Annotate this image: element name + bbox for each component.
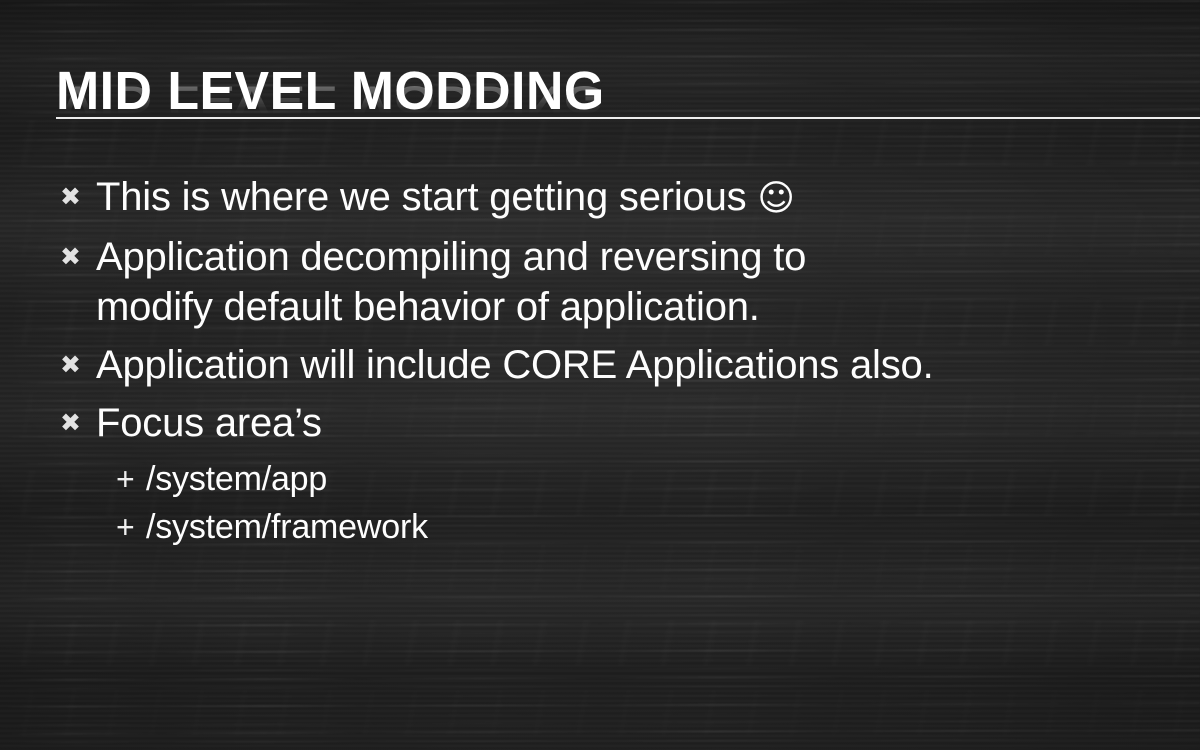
sub-bullet-item: + /system/app [0, 456, 1200, 502]
slide-title-block: Mid Level Modding Mid Level Modding [56, 64, 1156, 160]
bullet-item: ✖ Application will include CORE Applicat… [0, 340, 1200, 390]
bullet-text: Application decompiling and reversing to… [96, 232, 1200, 332]
smiley-face-icon: ☺ [757, 178, 794, 219]
sub-bullet-text: /system/framework [146, 504, 1200, 550]
plus-bullet-icon: + [116, 456, 146, 502]
cross-bullet-icon: ✖ [58, 172, 96, 222]
bullet-text: Focus area’s [96, 398, 1200, 448]
bullet-item: ✖ Application decompiling and reversing … [0, 232, 1200, 332]
slide-body: ✖ This is where we start getting serious… [0, 172, 1200, 552]
bullet-text-content: This is where we start getting serious [96, 175, 757, 219]
slide: Mid Level Modding Mid Level Modding ✖ Th… [0, 0, 1200, 750]
title-divider [56, 117, 1200, 119]
bullet-item: ✖ This is where we start getting serious… [0, 172, 1200, 224]
cross-bullet-icon: ✖ [58, 232, 96, 282]
plus-bullet-icon: + [116, 504, 146, 550]
sub-bullet-text: /system/app [146, 456, 1200, 502]
bullet-text: This is where we start getting serious ☺ [96, 172, 1200, 224]
page-title: Mid Level Modding [56, 64, 605, 118]
cross-bullet-icon: ✖ [58, 340, 96, 390]
bullet-item: ✖ Focus area’s [0, 398, 1200, 448]
sub-bullet-item: + /system/framework [0, 504, 1200, 550]
cross-bullet-icon: ✖ [58, 398, 96, 448]
bullet-text: Application will include CORE Applicatio… [96, 340, 1200, 390]
